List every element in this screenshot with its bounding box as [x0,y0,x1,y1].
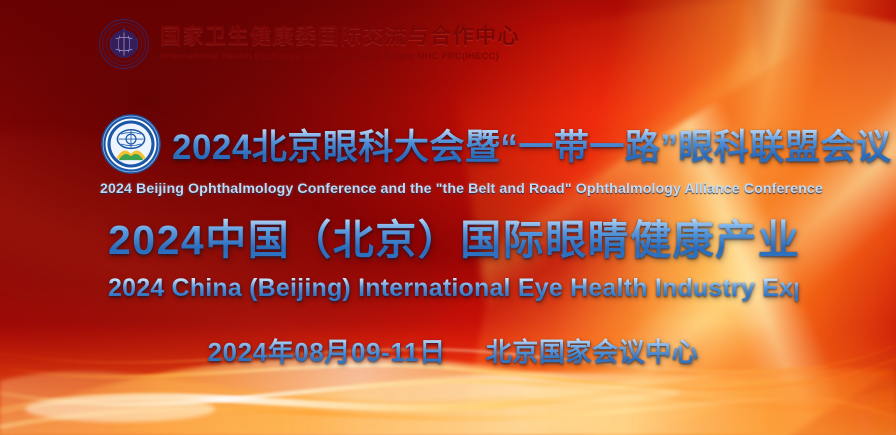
conference-title-en: 2024 Beijing Ophthalmology Conference an… [100,181,800,197]
ophthalmology-alliance-emblem-icon [100,113,162,175]
conference-banner: 国家卫生健康委国际交流与合作中心 International Health Ex… [0,0,896,435]
event-info-row: 2024年08月09-11日 北京国家会议中心 [108,332,798,369]
conference-title-row: 2024北京眼科大会暨“一带一路”眼科联盟会议 [100,113,800,175]
organizer-name-cn: 国家卫生健康委国际交流与合作中心 [160,26,520,47]
event-venue: 北京国家会议中心 [486,332,699,369]
expo-title-block: 2024中国（北京）国际眼睛健康产业博览会 2024 China (Beijin… [108,206,798,303]
conference-title-cn: 2024北京眼科大会暨“一带一路”眼科联盟会议 [172,119,891,170]
expo-title-cn: 2024中国（北京）国际眼睛健康产业博览会 [108,206,798,266]
nhc-circular-emblem-icon [98,18,150,70]
organizer-text: 国家卫生健康委国际交流与合作中心 International Health Ex… [160,26,520,62]
expo-title-en: 2024 China (Beijing) International Eye H… [108,274,798,303]
organizer-name-en: International Health Exchange and Cooper… [160,52,520,62]
conference-title-text: 2024北京眼科大会暨“一带一路”眼科联盟会议 [172,119,891,170]
conference-title-block: 2024北京眼科大会暨“一带一路”眼科联盟会议 2024 Beijing Oph… [100,113,800,197]
organizer-header: 国家卫生健康委国际交流与合作中心 International Health Ex… [98,18,520,70]
event-date: 2024年08月09-11日 [207,332,445,369]
